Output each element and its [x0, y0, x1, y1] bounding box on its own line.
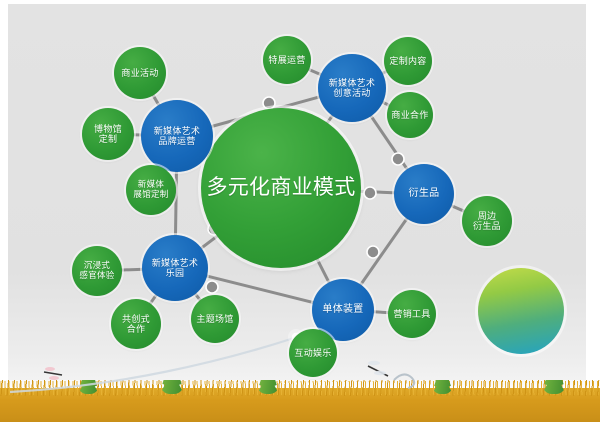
leaf-node-6-label: 商业合作 [389, 110, 430, 120]
hub-node-1-label-line: 品牌运营 [152, 136, 203, 146]
hub-node-3-label-line: 衍生品 [407, 188, 442, 199]
hub-node-1[interactable]: 新媒体艺术品牌运营 [141, 100, 213, 172]
hub-node-1-label: 新媒体艺术品牌运营 [152, 126, 203, 146]
leaf-node-3-label-line: 展馆定制 [131, 190, 170, 200]
dragonfly-left [44, 367, 62, 380]
connector-dot-6 [364, 187, 376, 199]
leaf-node-1[interactable]: 商业活动 [114, 47, 166, 99]
hub-node-2-label: 新媒体艺术创意活动 [327, 78, 378, 98]
leaf-node-10[interactable]: 沉浸式感官体验 [72, 246, 122, 296]
hub-node-3-label: 衍生品 [407, 188, 442, 199]
leaf-node-11-label-line: 共创式 [120, 314, 152, 324]
hub-node-2-label-line: 新媒体艺术 [327, 78, 378, 88]
leaf-node-6-label-line: 商业合作 [389, 110, 430, 120]
hub-node-4-label: 单体装置 [320, 304, 365, 315]
ribbon-curl [394, 374, 414, 388]
leaf-node-8-label: 营销工具 [391, 309, 432, 319]
leaf-node-7-label-line: 周边 [471, 211, 503, 221]
leaf-node-12-label: 主题场馆 [194, 314, 235, 324]
hub-node-1-label-line: 新媒体艺术 [152, 126, 203, 136]
swoosh-arc [10, 338, 294, 392]
leaf-node-11-label: 共创式合作 [120, 314, 152, 334]
center-node-multi-business-model[interactable]: 多元化商业模式 [201, 108, 361, 268]
leaf-node-11[interactable]: 共创式合作 [111, 299, 161, 349]
leaf-node-7-label: 周边衍生品 [471, 211, 503, 231]
leaf-node-2-label: 博物馆定制 [92, 124, 124, 144]
connector-dot-4 [206, 281, 218, 293]
leaf-node-10-label-line: 感官体验 [77, 271, 116, 281]
leaf-node-8[interactable]: 营销工具 [388, 290, 436, 338]
infographic-canvas: 多元化商业模式新媒体艺术品牌运营新媒体艺术创意活动衍生品单体装置新媒体艺术乐园商… [0, 0, 600, 422]
leaf-node-3[interactable]: 新媒体展馆定制 [126, 165, 176, 215]
leaf-node-9-label: 互动娱乐 [292, 348, 333, 358]
leaf-node-9[interactable]: 互动娱乐 [289, 329, 337, 377]
leaf-node-4-label-line: 特展运营 [266, 55, 307, 65]
leaf-node-6[interactable]: 商业合作 [387, 92, 433, 138]
leaf-node-12-label-line: 主题场馆 [194, 314, 235, 324]
hub-node-5[interactable]: 新媒体艺术乐园 [142, 235, 208, 301]
hub-node-2[interactable]: 新媒体艺术创意活动 [318, 54, 386, 122]
connector-dot-3 [367, 246, 379, 258]
leaf-node-5-label-line: 定制内容 [387, 56, 428, 66]
hub-node-4-label-line: 单体装置 [320, 304, 365, 315]
connector-dot-1 [263, 97, 275, 109]
leaf-node-10-label: 沉浸式感官体验 [77, 261, 116, 280]
leaf-node-9-label-line: 互动娱乐 [292, 348, 333, 358]
leaf-node-2[interactable]: 博物馆定制 [82, 108, 134, 160]
leaf-node-12[interactable]: 主题场馆 [191, 295, 239, 343]
dragonfly-right [368, 361, 388, 376]
center-node-multi-business-model-label: 多元化商业模式 [204, 176, 357, 200]
leaf-node-5[interactable]: 定制内容 [384, 37, 432, 85]
leaf-node-8-label-line: 营销工具 [391, 309, 432, 319]
leaf-node-1-label: 商业活动 [119, 68, 160, 78]
leaf-node-2-label-line: 定制 [92, 134, 124, 144]
leaf-node-4[interactable]: 特展运营 [263, 36, 311, 84]
hub-node-5-label: 新媒体艺术乐园 [150, 258, 201, 278]
hub-node-5-label-line: 乐园 [150, 268, 201, 278]
leaf-node-7[interactable]: 周边衍生品 [462, 196, 512, 246]
connector-dot-2 [392, 153, 404, 165]
leaf-node-7-label-line: 衍生品 [471, 221, 503, 231]
center-node-multi-business-model-label-line: 多元化商业模式 [204, 176, 357, 200]
leaf-node-1-label-line: 商业活动 [119, 68, 160, 78]
leaf-node-3-label: 新媒体展馆定制 [131, 180, 170, 199]
leaf-node-5-label: 定制内容 [387, 56, 428, 66]
leaf-node-4-label: 特展运营 [266, 55, 307, 65]
hub-node-3[interactable]: 衍生品 [394, 164, 454, 224]
leaf-node-11-label-line: 合作 [120, 324, 152, 334]
hub-node-5-label-line: 新媒体艺术 [150, 258, 201, 268]
leaf-node-2-label-line: 博物馆 [92, 124, 124, 134]
hub-node-2-label-line: 创意活动 [327, 88, 378, 98]
decorative-gradient-orb [478, 268, 564, 354]
